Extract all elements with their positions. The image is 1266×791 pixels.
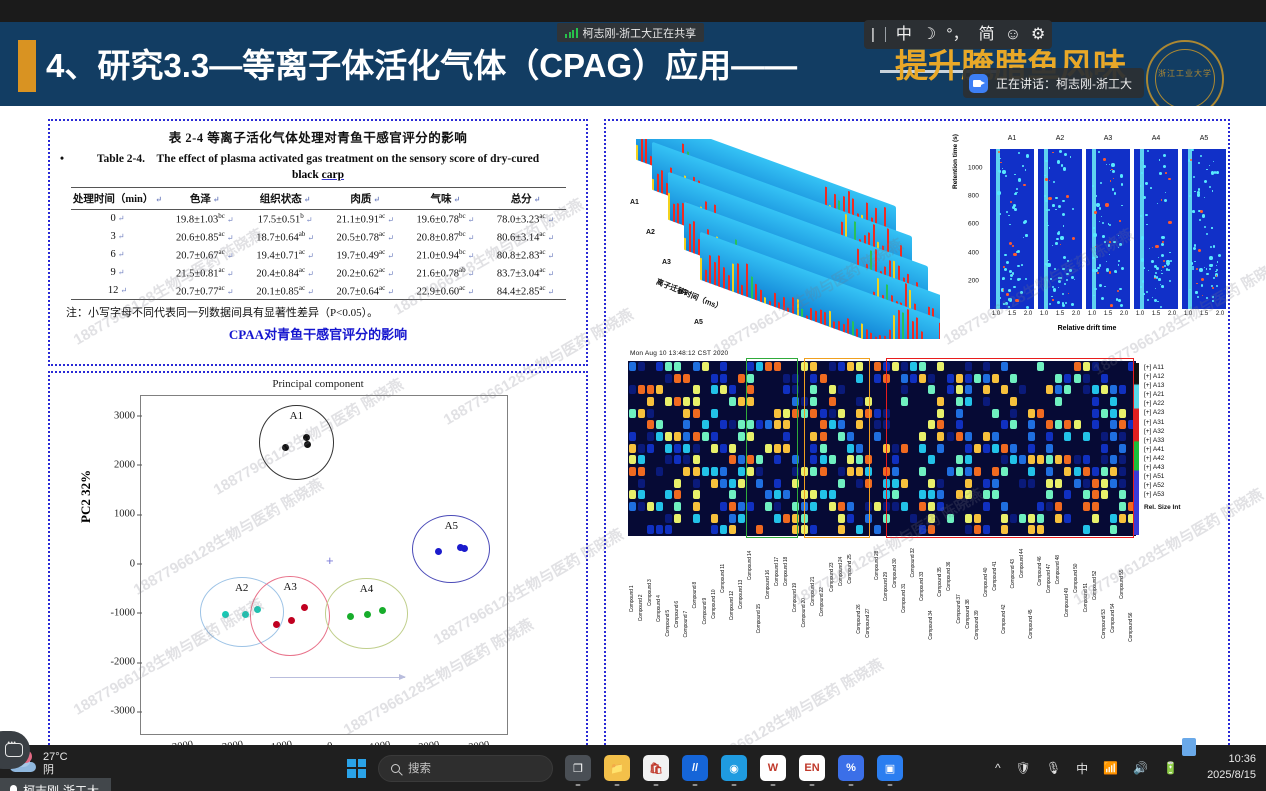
gcims-x-tick: 2.0 — [1072, 311, 1080, 317]
table-title-en2-pre: black — [292, 169, 322, 181]
fingerprint-compound-label: Compound 5 — [665, 537, 671, 637]
gcims-x-tick: 1.0 — [1184, 311, 1192, 317]
table-header-cell: 处理时间（min） ↵ — [71, 188, 165, 210]
fingerprint-cell — [665, 455, 672, 464]
pca-data-point — [304, 441, 311, 448]
fingerprint-cell — [720, 525, 727, 534]
table-row: 12 ↵20.7±0.77ac ↵20.1±0.85ac ↵20.7±0.64a… — [71, 282, 566, 300]
fingerprint-cell — [711, 444, 718, 453]
gcims-panel — [990, 149, 1034, 309]
fingerprint-compound-label: Compound 33 — [919, 537, 925, 601]
gcims-x-tick: 1.0 — [1040, 311, 1048, 317]
fingerprint-cell — [720, 467, 727, 476]
fingerprint-compound-label: Compound 14 — [747, 537, 753, 580]
fingerprint-compound-label: Compound 35 — [937, 537, 943, 597]
fingerprint-compound-label: Compound 48 — [1055, 537, 1061, 584]
taskbar-microsoft-edge-icon[interactable]: ◉ — [721, 755, 747, 781]
table-cell-time: 3 ↵ — [71, 228, 165, 246]
fingerprint-legend-item: [+] A13 — [1144, 381, 1214, 390]
fingerprint-cell — [638, 467, 645, 476]
fingerprint-cell — [738, 432, 745, 441]
pca-y-tick: -1000 — [111, 607, 136, 618]
table-cell: 20.7±0.67ac ↵ — [165, 246, 245, 264]
table-row: 0 ↵19.8±1.03bc ↵17.5±0.51b ↵21.1±0.91ac … — [71, 210, 566, 228]
fingerprint-cell — [665, 525, 672, 534]
table-cell: 21.1±0.91ac ↵ — [325, 210, 405, 228]
system-tray: ^ 🛡 🎙 中 📶 🔊 🔋 — [995, 745, 1178, 791]
fingerprint-cell — [629, 455, 636, 464]
fingerprint-cell — [738, 374, 745, 383]
table-cell: 80.6±3.14ac ↵ — [486, 228, 566, 246]
fingerprint-cell — [683, 409, 690, 418]
fingerprint-cell — [729, 479, 736, 488]
pca-y-tick: -3000 — [111, 706, 136, 717]
pca-y-tick: 3000 — [114, 410, 135, 421]
floating-side-button[interactable] — [1182, 738, 1196, 756]
fingerprint-compound-label: Compound 2 — [638, 537, 644, 621]
fingerprint-legend-item: [+] A53 — [1144, 490, 1214, 499]
fingerprint-compound-label: Compound 30 — [892, 537, 898, 588]
gcims-x-tick: 1.5 — [1200, 311, 1208, 317]
fingerprint-compound-label: Compound 13 — [738, 537, 744, 609]
fingerprint-compound-label: Compound 39 — [974, 537, 980, 640]
fingerprint-compound-label: Compound 12 — [729, 537, 735, 620]
fingerprint-cell — [693, 479, 700, 488]
fingerprint-compound-label: Compound 4 — [656, 537, 662, 622]
speaking-label: 正在讲话：柯志刚-浙工大 — [996, 75, 1132, 92]
fingerprint-cell — [683, 374, 690, 383]
fingerprint-cell — [874, 420, 881, 429]
fingerprint-cell — [674, 502, 681, 511]
table-title-cn: 表 2-4 等离子活化气体处理对青鱼干感官评分的影响 — [50, 127, 586, 146]
fingerprint-cell — [638, 479, 645, 488]
fingerprint-compound-labels: Compound 1Compound 2Compound 3Compound 4… — [628, 537, 1136, 647]
fingerprint-cell — [647, 409, 654, 418]
microphone-icon — [10, 785, 17, 791]
fingerprint-compound-label: Compound 21 — [810, 537, 816, 606]
pca-data-point — [273, 621, 280, 628]
fingerprint-cell — [711, 374, 718, 383]
fingerprint-legend-item: [+] A22 — [1144, 399, 1214, 408]
ime-emoji-icon[interactable]: ☺ — [1005, 27, 1021, 43]
gcims-panel-label: A2 — [1056, 135, 1065, 142]
fingerprint-cell — [638, 444, 645, 453]
fingerprint-legend-item: [+] A52 — [1144, 481, 1214, 490]
table-cell: 21.6±0.78ab ↵ — [405, 264, 485, 282]
gcims-y-tick: 200 — [968, 277, 979, 284]
pca-data-point — [242, 611, 249, 618]
fingerprint-cell — [738, 502, 745, 511]
table-cell-time: 9 ↵ — [71, 264, 165, 282]
seal-label: 浙江工业大学 — [1148, 68, 1222, 79]
fingerprint-cell — [674, 490, 681, 499]
fingerprint-legend-item: [+] A11 — [1144, 363, 1214, 372]
table-title-en2: black carp — [50, 169, 586, 181]
title-accent-bar — [18, 40, 36, 92]
fingerprint-compound-label: Compound 49 — [1064, 537, 1070, 617]
pca-data-point — [288, 617, 295, 624]
gcims-x-tick: 1.5 — [1056, 311, 1064, 317]
fingerprint-cell — [711, 514, 718, 523]
sharing-indicator[interactable]: 柯志刚-浙工大正在共享 — [557, 23, 704, 42]
tray-security-icon[interactable]: 🛡 — [1016, 761, 1031, 775]
fingerprint-cell — [674, 397, 681, 406]
gcims-panel-label: A3 — [1104, 135, 1113, 142]
fingerprint-cell — [629, 409, 636, 418]
taskbar-microsoft-store-icon[interactable]: 🛍 — [643, 755, 669, 781]
table-header-cell: 总分 ↵ — [486, 188, 566, 210]
fingerprint-cell — [638, 385, 645, 394]
table-header-cell: 气味 ↵ — [405, 188, 485, 210]
fingerprint-cell — [656, 432, 663, 441]
tray-battery-icon[interactable]: 🔋 — [1163, 761, 1178, 775]
fingerprint-cell — [674, 455, 681, 464]
pca-data-point — [435, 548, 442, 555]
fingerprint-compound-label: Compound 7 — [683, 537, 689, 638]
fingerprint-cell — [693, 514, 700, 523]
fingerprint-cell — [693, 362, 700, 371]
pca-y-axis-label: PC2 32% — [78, 470, 94, 523]
start-button-icon[interactable] — [347, 759, 366, 778]
table-header-cell: 肉质 ↵ — [325, 188, 405, 210]
taskbar-app-percent-icon[interactable]: % — [838, 755, 864, 781]
slide-body: 表 2-4 等离子活化气体处理对青鱼干感官评分的影响 • Table 2-4. … — [0, 106, 1266, 745]
tray-microphone-icon[interactable]: 🎙 — [1046, 761, 1061, 775]
fingerprint-cell — [656, 467, 663, 476]
fingerprint-cell — [665, 490, 672, 499]
fingerprint-legend-item: [+] A41 — [1144, 445, 1214, 454]
university-seal: 浙江工业大学 — [1146, 40, 1224, 106]
fingerprint-legend-item: [+] A32 — [1144, 427, 1214, 436]
pca-trend-arrow — [270, 677, 404, 678]
table-caption: CPAA对青鱼干感官评分的影响 — [50, 324, 586, 343]
table-cell: 21.5±0.81ac ↵ — [165, 264, 245, 282]
fingerprint-cell — [656, 525, 663, 534]
fingerprint-compound-label: Compound 1 — [629, 537, 635, 612]
fingerprint-cell — [729, 455, 736, 464]
fingerprint-cell — [647, 432, 654, 441]
fingerprint-legend-item: [+] A43 — [1144, 463, 1214, 472]
fingerprint-cell — [711, 467, 718, 476]
fingerprint-cell — [720, 444, 727, 453]
taskbar-file-explorer-icon[interactable]: 📁 — [604, 755, 630, 781]
fingerprint-compound-label: Compound 16 — [765, 537, 771, 599]
taskbar-wps-office-icon[interactable]: W — [760, 755, 786, 781]
fingerprint-compound-label: Compound 40 — [983, 537, 989, 597]
fingerprint-cell — [702, 432, 709, 441]
table-note: 注：小写字母不同代表同一列数据间具有显著性差异（P<0.05）。 — [66, 304, 586, 320]
pca-data-point — [461, 545, 468, 552]
table-cell-time: 12 ↵ — [71, 282, 165, 300]
fingerprint-legend: [+] A11[+] A12[+] A13[+] A21[+] A22[+] A… — [1144, 363, 1214, 513]
fingerprint-cell — [729, 490, 736, 499]
fingerprint-cell — [874, 525, 881, 534]
fingerprint-compound-label: Compound 47 — [1046, 537, 1052, 593]
table-cell: 19.8±1.03bc ↵ — [165, 210, 245, 228]
fingerprint-cell — [674, 514, 681, 523]
signal-bars-icon — [565, 28, 578, 38]
fingerprint-compound-label: Compound 15 — [756, 537, 762, 633]
windows-taskbar: 9 27°C 阴 搜索 ❐📁🛍//◉WEN%▣ ^ 🛡 🎙 中 📶 🔊 🔋 — [0, 745, 1266, 791]
fingerprint-compound-label: Compound 55 — [1119, 537, 1125, 599]
fingerprint-compound-label: Compound 53 — [1101, 537, 1107, 639]
fingerprint-compound-label: Compound 11 — [720, 537, 726, 593]
gcims-panel — [1086, 149, 1130, 309]
fingerprint-compound-label: Compound 22 — [819, 537, 825, 617]
ime-simplified-button[interactable]: 简 — [979, 27, 995, 43]
screen: 柯志刚-浙工大正在共享 | 中 ☽ °， 简 ☺ ⚙ 4、研究3.3—等离子体活… — [0, 0, 1266, 791]
sensory-score-table: 处理时间（min） ↵色泽 ↵组织状态 ↵肉质 ↵气味 ↵总分 ↵ 0 ↵19.… — [71, 187, 566, 300]
fingerprint-roi-box-green — [746, 358, 798, 538]
fingerprint-compound-label: Compound 45 — [1028, 537, 1034, 639]
fingerprint-colorbar — [1134, 363, 1139, 535]
fingerprint-legend-item: [+] A12 — [1144, 372, 1214, 381]
pca-plot-area: -3000-2000-10000100020003000-3000-2000-1… — [140, 395, 508, 735]
fingerprint-cell — [693, 397, 700, 406]
table-cell: 20.7±0.77ac ↵ — [165, 282, 245, 300]
fingerprint-cell — [683, 455, 690, 464]
ime-settings-gear-icon[interactable]: ⚙ — [1031, 27, 1045, 43]
fingerprint-cell — [729, 514, 736, 523]
plot3d-sample-label: A1 — [630, 199, 639, 206]
clock-time: 10:36 — [1207, 751, 1256, 767]
sharing-label: 柯志刚-浙工大正在共享 — [583, 25, 697, 41]
fingerprint-cell — [674, 444, 681, 453]
table-cell: 83.7±3.04ac ↵ — [486, 264, 566, 282]
fingerprint-compound-label: Compound 34 — [928, 537, 934, 640]
search-icon — [391, 764, 400, 773]
gcims-y-tick: 1000 — [968, 165, 982, 172]
fingerprint-cell — [711, 409, 718, 418]
fingerprint-cell — [693, 444, 700, 453]
pca-panel: Principal component PC2 32% -3000-2000-1… — [48, 371, 588, 791]
gcims-x-tick: 2.0 — [1216, 311, 1224, 317]
self-name-bar: 柯志刚-浙工大 — [0, 778, 111, 791]
search-input[interactable]: 搜索 — [378, 755, 553, 782]
fingerprint-legend-item: [+] A21 — [1144, 390, 1214, 399]
tray-wifi-icon[interactable]: 📶 — [1103, 761, 1118, 775]
fingerprint-compound-label: Compound 29 — [883, 537, 889, 601]
fingerprint-cell — [702, 362, 709, 371]
fingerprint-cell — [738, 467, 745, 476]
taskbar-ime-en-icon[interactable]: EN — [799, 755, 825, 781]
pca-cluster-label: A5 — [413, 520, 489, 532]
ime-toolbar[interactable]: | 中 ☽ °， 简 ☺ ⚙ — [864, 20, 1052, 49]
fingerprint-cell — [629, 490, 636, 499]
gcims-panel — [1038, 149, 1082, 309]
fingerprint-legend-item: [+] A31 — [1144, 418, 1214, 427]
fingerprint-compound-label: Compound 6 — [674, 537, 680, 628]
fingerprint-cell — [720, 479, 727, 488]
fingerprint-cell — [629, 444, 636, 453]
fingerprint-compound-label: Compound 54 — [1110, 537, 1116, 633]
gcims-x-tick: 2.0 — [1168, 311, 1176, 317]
gcims-x-tick: 1.0 — [992, 311, 1000, 317]
table-cell: 20.1±0.85ac ↵ — [245, 282, 325, 300]
fingerprint-cell — [683, 444, 690, 453]
gcims-panel-label: A5 — [1200, 135, 1209, 142]
table-title-en: • Table 2-4. The effect of plasma activa… — [50, 152, 586, 167]
fingerprint-compound-label: Compound 38 — [965, 537, 971, 629]
taskbar-app-blue-icon[interactable]: // — [682, 755, 708, 781]
plot3d-sample-label: A3 — [662, 259, 671, 266]
fingerprint-cell — [693, 467, 700, 476]
fingerprint-cell — [629, 385, 636, 394]
pca-data-point — [301, 604, 308, 611]
fingerprint-cell — [638, 455, 645, 464]
fingerprint-legend-item: [+] A33 — [1144, 436, 1214, 445]
speaking-toast: 正在讲话：柯志刚-浙工大 — [963, 68, 1144, 98]
fingerprint-cell — [674, 432, 681, 441]
fingerprint-cell — [693, 502, 700, 511]
taskbar-app-icons: ❐📁🛍//◉WEN%▣ — [565, 755, 903, 781]
fingerprint-cell — [720, 385, 727, 394]
fingerprint-compound-label: Compound 44 — [1019, 537, 1025, 578]
taskbar-clock[interactable]: 10:36 2025/8/15 — [1207, 751, 1256, 783]
fingerprint-compound-label: Compound 56 — [1128, 537, 1134, 642]
fingerprint-timestamp: Mon Aug 10 13:48:12 CST 2020 — [630, 350, 728, 357]
fingerprint-cell — [647, 502, 654, 511]
ime-moon-icon[interactable]: ☽ — [922, 27, 936, 43]
fingerprint-cell — [656, 420, 663, 429]
pca-y-tick: 0 — [130, 558, 135, 569]
fingerprint-cell — [729, 397, 736, 406]
table-cell: 17.5±0.51b ↵ — [245, 210, 325, 228]
fingerprint-compound-label: Compound 37 — [956, 537, 962, 624]
fingerprint-legend-item: [+] A51 — [1144, 472, 1214, 481]
weather-temperature: 27°C — [43, 751, 68, 764]
fingerprint-cell — [647, 420, 654, 429]
fingerprint-compound-label: Compound 32 — [910, 537, 916, 577]
fingerprint-compound-label: Compound 24 — [838, 537, 844, 586]
table-cell: 78.0±3.23ac ↵ — [486, 210, 566, 228]
table-cell-time: 6 ↵ — [71, 246, 165, 264]
fingerprint-cell — [693, 490, 700, 499]
fingerprint-cell — [702, 420, 709, 429]
shared-slide-surface: 柯志刚-浙工大正在共享 | 中 ☽ °， 简 ☺ ⚙ 4、研究3.3—等离子体活… — [0, 0, 1266, 745]
fingerprint-cell — [693, 385, 700, 394]
tray-expand-icon[interactable]: ^ — [995, 761, 1001, 775]
fingerprint-cell — [629, 362, 636, 371]
pca-data-point — [379, 607, 386, 614]
fingerprint-cell — [656, 385, 663, 394]
fingerprint-cell — [738, 420, 745, 429]
fingerprint-cell — [647, 397, 654, 406]
fingerprint-cell — [711, 525, 718, 534]
fingerprint-legend-item: [+] A42 — [1144, 454, 1214, 463]
fingerprint-cell — [665, 432, 672, 441]
plot3d-sample-label: A2 — [646, 229, 655, 236]
fingerprint-cell — [711, 479, 718, 488]
table-cell: 20.8±0.87bc ↵ — [405, 228, 485, 246]
pca-data-point — [282, 444, 289, 451]
table-row: 3 ↵20.6±0.85ac ↵18.7±0.64ab ↵20.5±0.78ac… — [71, 228, 566, 246]
pca-y-tick: 1000 — [114, 509, 135, 520]
top-strip — [0, 0, 1266, 22]
pca-cluster-a3: A3 — [250, 576, 330, 656]
fingerprint-cell — [656, 502, 663, 511]
fingerprint-cell — [874, 409, 881, 418]
gcims-2d-y-axis-label: Retention time (s) — [952, 134, 959, 189]
taskbar-tencent-meeting-icon[interactable]: ▣ — [877, 755, 903, 781]
gcims-x-tick: 1.0 — [1088, 311, 1096, 317]
self-name-label: 柯志刚-浙工大 — [23, 782, 99, 791]
fingerprint-roi-box-orange — [804, 358, 870, 538]
gcims-3d-plot: 保留时间（s） 离子迁移时间（ms） A1A2A3A4A5 — [628, 139, 940, 339]
table-title-en2-underline: carp — [322, 169, 344, 181]
fingerprint-compound-label: Compound 52 — [1092, 537, 1098, 600]
fingerprint-cell — [702, 467, 709, 476]
fingerprint-cell — [729, 385, 736, 394]
table-cell-time: 0 ↵ — [71, 210, 165, 228]
table-cell: 20.6±0.85ac ↵ — [165, 228, 245, 246]
tray-volume-icon[interactable]: 🔊 — [1133, 761, 1148, 775]
plot3d-sample-label: A4 — [678, 289, 687, 296]
table-cell: 20.7±0.64ac ↵ — [325, 282, 405, 300]
taskbar-center: 搜索 ❐📁🛍//◉WEN%▣ — [347, 745, 903, 791]
fingerprint-compound-label: Compound 8 — [692, 537, 698, 609]
fingerprint-cell — [729, 525, 736, 534]
clock-date: 2025/8/15 — [1207, 767, 1256, 783]
fingerprint-cell — [656, 362, 663, 371]
fingerprint-compound-label: Compound 27 — [865, 537, 871, 638]
fingerprint-cell — [720, 502, 727, 511]
fingerprint-cell — [683, 432, 690, 441]
table-cell: 21.0±0.94bc ↵ — [405, 246, 485, 264]
fingerprint-compound-label: Compound 25 — [847, 537, 853, 584]
fingerprint-compound-label: Compound 42 — [1001, 537, 1007, 634]
fingerprint-cell — [638, 502, 645, 511]
table-cell: 19.6±0.78bc ↵ — [405, 210, 485, 228]
fingerprint-cell — [683, 420, 690, 429]
fingerprint-cell — [711, 432, 718, 441]
fingerprint-cell — [674, 374, 681, 383]
ime-mode-button[interactable]: 中 — [896, 27, 912, 43]
gcims-2d-plot: Retention time (s) Relative drift time 2… — [956, 135, 1218, 340]
gcims-panel: 保留时间（s） 离子迁移时间（ms） A1A2A3A4A5 Retention … — [604, 119, 1230, 791]
taskbar-task-view-icon[interactable]: ❐ — [565, 755, 591, 781]
gcims-panel — [1134, 149, 1178, 309]
fingerprint-cell — [693, 432, 700, 441]
ime-punctuation-button[interactable]: °， — [946, 27, 968, 43]
gcims-x-tick: 1.5 — [1152, 311, 1160, 317]
fingerprint-cell — [683, 467, 690, 476]
gcims-y-tick: 600 — [968, 221, 979, 228]
fingerprint-cell — [693, 455, 700, 464]
fingerprint-cell — [729, 420, 736, 429]
gcims-panel — [1182, 149, 1226, 309]
sensory-table-panel: 表 2-4 等离子活化气体处理对青鱼干感官评分的影响 • Table 2-4. … — [48, 119, 588, 366]
table-title-en-text: Table 2-4. The effect of plasma activate… — [97, 153, 539, 165]
gcims-fingerprint: Mon Aug 10 13:48:12 CST 2020 [+] A11[+] … — [628, 361, 1213, 661]
fingerprint-cell — [738, 514, 745, 523]
fingerprint-cell — [665, 362, 672, 371]
pca-y-tick: -2000 — [111, 657, 136, 668]
fingerprint-legend-item: [+] A23 — [1144, 408, 1214, 417]
table-row: 6 ↵20.7±0.67ac ↵19.4±0.71ac ↵19.7±0.49ac… — [71, 246, 566, 264]
fingerprint-cell — [629, 502, 636, 511]
table-row: 9 ↵21.5±0.81ac ↵20.4±0.84ac ↵20.2±0.62ac… — [71, 264, 566, 282]
gcims-x-tick: 1.0 — [1136, 311, 1144, 317]
fingerprint-cell — [874, 374, 881, 383]
fingerprint-compound-label: Compound 31 — [901, 537, 907, 613]
gcims-panel-label: A4 — [1152, 135, 1161, 142]
fingerprint-cell — [647, 525, 654, 534]
tray-ime-icon[interactable]: 中 — [1076, 760, 1088, 777]
fingerprint-compound-label: Compound 51 — [1083, 537, 1089, 612]
fingerprint-cell — [665, 514, 672, 523]
fingerprint-cell — [874, 502, 881, 511]
